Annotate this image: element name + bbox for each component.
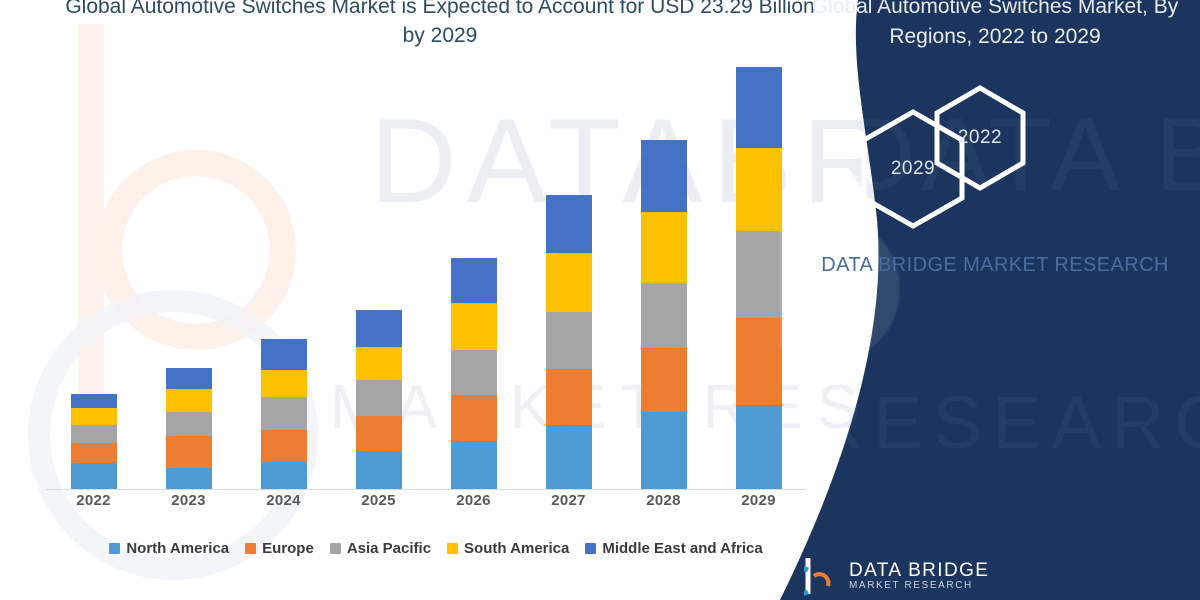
bar-segment[interactable]: [166, 468, 212, 489]
bar-slot: [236, 60, 331, 489]
legend-label: South America: [464, 540, 569, 557]
legend-swatch-icon: [330, 543, 341, 554]
legend-swatch-icon: [109, 543, 120, 554]
x-axis-label-2027: 2027: [521, 492, 616, 509]
legend-label: Asia Pacific: [347, 540, 431, 557]
legend-swatch-icon: [585, 543, 596, 554]
x-axis-label-2026: 2026: [426, 492, 521, 509]
bar-segment[interactable]: [71, 425, 117, 443]
x-axis-label-2025: 2025: [331, 492, 426, 509]
databridge-logo: DATA BRIDGE MARKET RESEARCH: [804, 556, 989, 596]
bar-segment[interactable]: [71, 443, 117, 463]
legend-item-asia-pacific[interactable]: Asia Pacific: [330, 540, 431, 557]
stacked-bar-2024[interactable]: [261, 339, 307, 489]
bar-slot: [46, 60, 141, 489]
bar-slot: [616, 60, 711, 489]
bar-segment[interactable]: [166, 436, 212, 468]
plot-area: [46, 60, 806, 490]
screenshot-stage: DATABR MARKET RESEARCH Global Automotive…: [0, 0, 1200, 600]
bar-segment[interactable]: [71, 394, 117, 408]
bar-segment[interactable]: [356, 310, 402, 348]
chart-title: Global Automotive Switches Market is Exp…: [60, 0, 820, 50]
bar-segment[interactable]: [546, 253, 592, 312]
stacked-bar-2025[interactable]: [356, 310, 402, 489]
bar-segment[interactable]: [261, 339, 307, 370]
bar-segment[interactable]: [356, 451, 402, 489]
navy-watermark-bottom: RESEARCH: [810, 380, 1200, 465]
stacked-bar-2023[interactable]: [166, 368, 212, 489]
chart-panel: DATABR MARKET RESEARCH Global Automotive…: [0, 0, 880, 600]
bar-segment[interactable]: [736, 148, 782, 231]
hexagon-group: 2029 2022: [780, 86, 1200, 216]
bar-segment[interactable]: [546, 312, 592, 369]
x-axis-labels: 20222023202420252026202720282029: [46, 492, 806, 509]
bar-segment[interactable]: [736, 318, 782, 405]
bar-segment[interactable]: [451, 258, 497, 303]
brand-panel: DATA BRIDGE RESEARCH Global Automotive S…: [780, 0, 1200, 600]
stacked-bar-2028[interactable]: [641, 140, 687, 489]
x-axis-label-2023: 2023: [141, 492, 236, 509]
bar-segment[interactable]: [546, 195, 592, 253]
chart-legend: North AmericaEuropeAsia PacificSouth Ame…: [46, 540, 826, 557]
legend-swatch-icon: [245, 543, 256, 554]
bar-segment[interactable]: [71, 408, 117, 426]
bar-segment[interactable]: [736, 405, 782, 489]
bar-segment[interactable]: [641, 348, 687, 413]
bar-group: [46, 60, 806, 489]
bar-segment[interactable]: [356, 347, 402, 380]
legend-label: North America: [126, 540, 229, 557]
brand-tagline: DATA BRIDGE MARKET RESEARCH: [800, 250, 1190, 281]
bar-segment[interactable]: [166, 368, 212, 389]
legend-label: Middle East and Africa: [602, 540, 762, 557]
legend-item-europe[interactable]: Europe: [245, 540, 314, 557]
bar-segment[interactable]: [261, 430, 307, 462]
databridge-logo-text: DATA BRIDGE MARKET RESEARCH: [849, 561, 989, 591]
x-axis-label-2024: 2024: [236, 492, 331, 509]
bar-segment[interactable]: [451, 303, 497, 350]
bar-segment[interactable]: [546, 369, 592, 426]
bar-segment[interactable]: [641, 140, 687, 212]
bar-slot: [426, 60, 521, 489]
legend-item-middle-east-and-africa[interactable]: Middle East and Africa: [585, 540, 762, 557]
x-axis-line: [46, 489, 806, 490]
hexagon-2022-label: 2022: [958, 127, 1002, 149]
bar-slot: [521, 60, 616, 489]
bar-segment[interactable]: [166, 389, 212, 413]
legend-label: Europe: [262, 540, 314, 557]
bar-segment[interactable]: [451, 395, 497, 441]
legend-swatch-icon: [447, 543, 458, 554]
hexagon-2022: 2022: [932, 84, 1028, 192]
bar-slot: [141, 60, 236, 489]
bar-segment[interactable]: [261, 397, 307, 430]
stacked-bar-2022[interactable]: [71, 394, 117, 489]
bar-segment[interactable]: [641, 212, 687, 283]
databridge-logo-title: DATA BRIDGE: [849, 561, 989, 581]
hexagon-2029-label: 2029: [891, 158, 935, 180]
legend-item-north-america[interactable]: North America: [109, 540, 229, 557]
bar-segment[interactable]: [261, 370, 307, 397]
bar-segment[interactable]: [546, 425, 592, 489]
bar-segment[interactable]: [356, 380, 402, 415]
bar-segment[interactable]: [166, 412, 212, 436]
bar-segment[interactable]: [736, 67, 782, 148]
stacked-bar-2026[interactable]: [451, 258, 497, 489]
stacked-bar-2029[interactable]: [736, 67, 782, 489]
bar-segment[interactable]: [71, 463, 117, 489]
brand-panel-title: Global Automotive Switches Market, By Re…: [800, 0, 1190, 52]
bar-slot: [331, 60, 426, 489]
legend-item-south-america[interactable]: South America: [447, 540, 569, 557]
databridge-b-logo-icon: [804, 556, 840, 596]
bar-segment[interactable]: [641, 412, 687, 489]
x-axis-label-2028: 2028: [616, 492, 711, 509]
x-axis-label-2022: 2022: [46, 492, 141, 509]
bar-segment[interactable]: [736, 231, 782, 318]
databridge-logo-subtitle: MARKET RESEARCH: [849, 581, 989, 592]
stacked-bar-2027[interactable]: [546, 195, 592, 489]
bar-segment[interactable]: [451, 441, 497, 489]
bar-segment[interactable]: [356, 416, 402, 451]
bar-segment[interactable]: [261, 462, 307, 489]
bar-segment[interactable]: [641, 283, 687, 348]
bar-segment[interactable]: [451, 350, 497, 395]
